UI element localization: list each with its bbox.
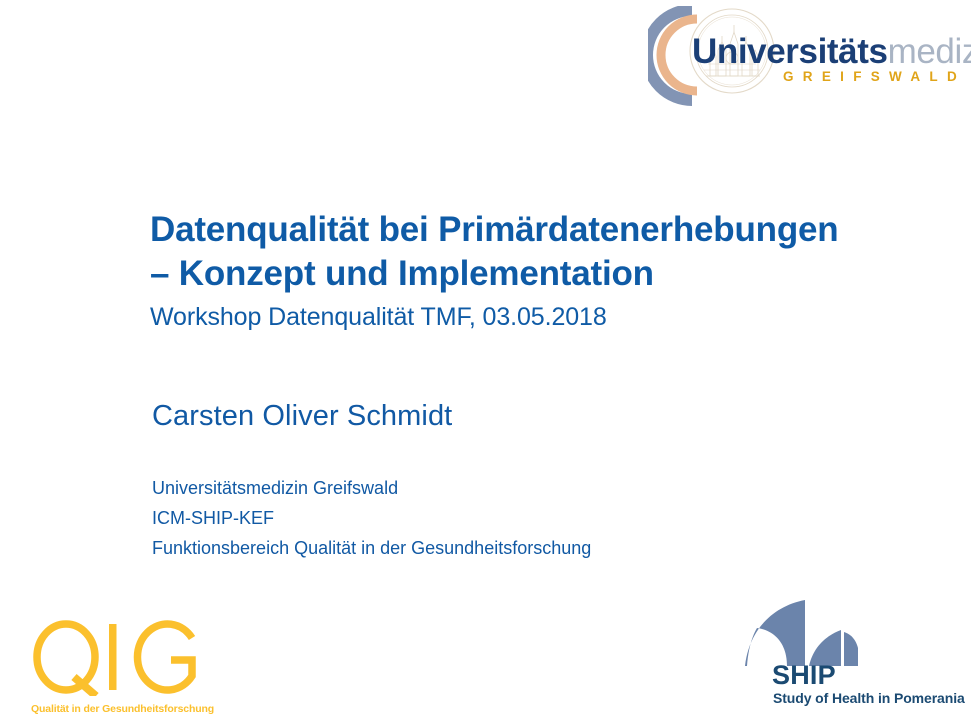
ship-sails-icon <box>743 600 883 666</box>
page-title: Datenqualität bei Primärdatenerhebungen … <box>150 208 940 296</box>
university-logo-wordmark-secondary: medizin <box>888 32 971 71</box>
page-title-line-2: – Konzept und Implementation <box>150 252 940 296</box>
qig-logo: Qualität in der Gesundheitsforschung <box>30 620 220 720</box>
university-logo-location: GREIFSWALD <box>783 69 966 84</box>
affiliation-line: ICM-SHIP-KEF <box>152 503 591 533</box>
ship-logo: SHIP Study of Health in Pomerania <box>743 600 971 710</box>
author-name: Carsten Oliver Schmidt <box>152 398 452 434</box>
qig-letters-icon <box>30 620 200 696</box>
title-block: Datenqualität bei Primärdatenerhebungen … <box>150 208 940 333</box>
university-logo-wordmark-primary: Universitäts <box>692 32 888 71</box>
ship-acronym: SHIP <box>772 660 836 690</box>
affiliation-line: Funktionsbereich Qualität in der Gesundh… <box>152 533 591 563</box>
affiliation-list: Universitätsmedizin Greifswald ICM-SHIP-… <box>152 473 591 563</box>
qig-tagline: Qualität in der Gesundheitsforschung <box>31 703 214 715</box>
page-title-line-1: Datenqualität bei Primärdatenerhebungen <box>150 208 940 252</box>
university-logo-wordmark: Universitätsmedizin <box>692 34 971 70</box>
ship-tagline: Study of Health in Pomerania <box>773 690 965 707</box>
university-logo: Universitätsmedizin GREIFSWALD <box>648 6 971 106</box>
affiliation-line: Universitätsmedizin Greifswald <box>152 473 591 503</box>
presentation-title-slide: Universitätsmedizin GREIFSWALD Datenqual… <box>0 0 971 728</box>
page-subtitle: Workshop Datenqualität TMF, 03.05.2018 <box>150 302 940 333</box>
